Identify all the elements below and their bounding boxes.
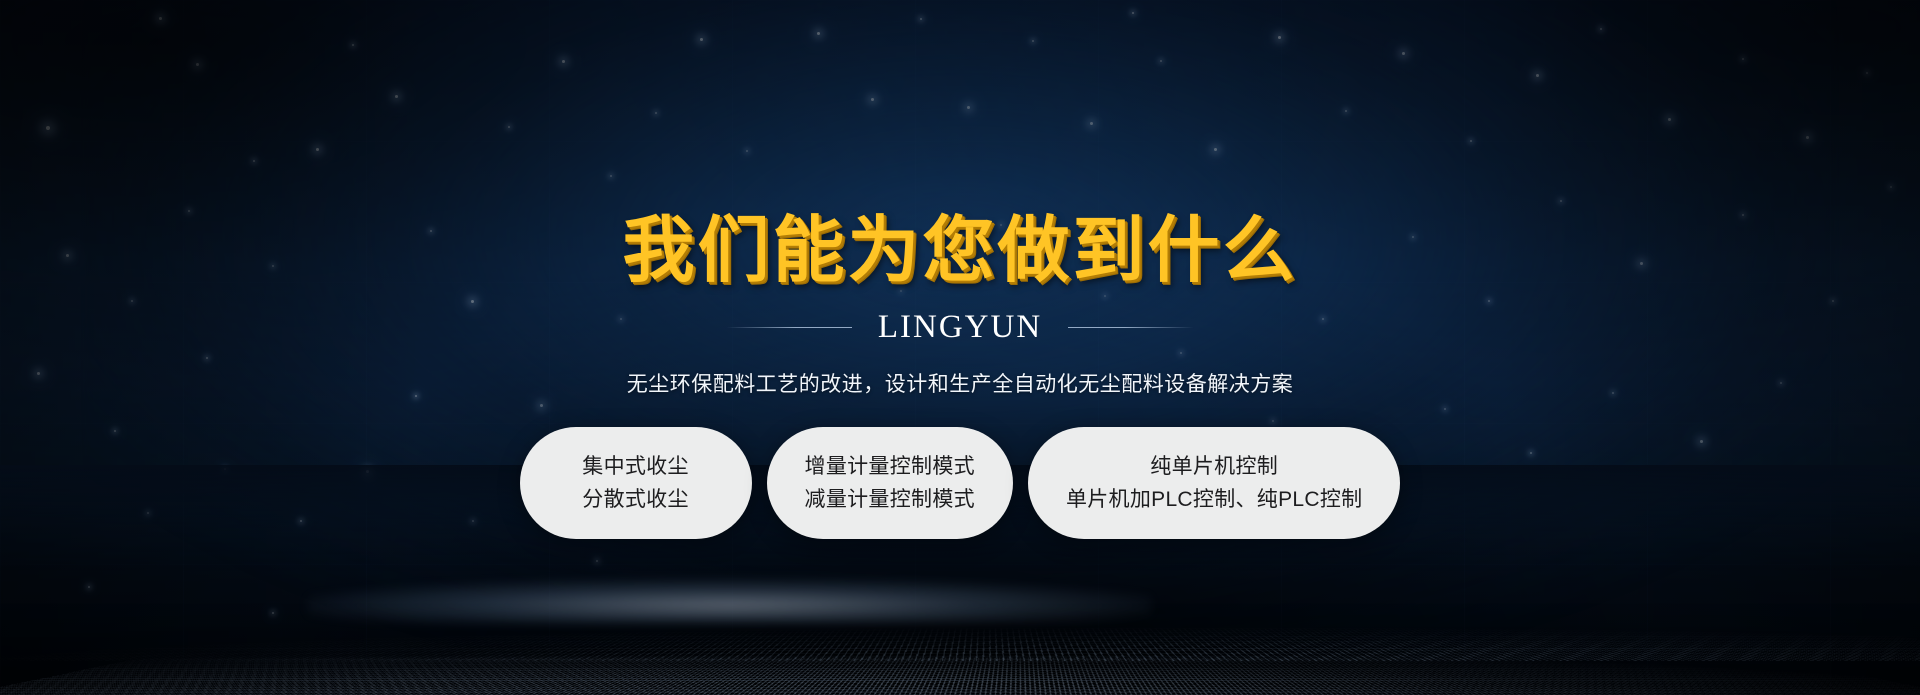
feature-card-line-2: 减量计量控制模式 (805, 488, 975, 511)
feature-card-metering-mode[interactable]: 增量计量控制模式 减量计量控制模式 (767, 427, 1013, 539)
feature-card-row: 集中式收尘 分散式收尘 增量计量控制模式 减量计量控制模式 纯单片机控制 单片机… (520, 427, 1401, 539)
feature-card-line-1: 增量计量控制模式 (805, 455, 975, 478)
rule-left-icon (726, 327, 852, 328)
feature-card-line-2: 分散式收尘 (582, 488, 689, 511)
tagline: 无尘环保配料工艺的改进，设计和生产全自动化无尘配料设备解决方案 (627, 368, 1294, 398)
feature-card-dust-collection[interactable]: 集中式收尘 分散式收尘 (520, 427, 752, 539)
brand-row: LINGYUN (726, 311, 1194, 344)
hero-banner: 我们能为您做到什么 LINGYUN 无尘环保配料工艺的改进，设计和生产全自动化无… (0, 0, 1920, 695)
feature-card-line-1: 纯单片机控制 (1150, 455, 1278, 478)
rule-right-icon (1068, 327, 1194, 328)
brand-name: LINGYUN (878, 311, 1042, 344)
feature-card-line-1: 集中式收尘 (582, 455, 689, 478)
feature-card-line-2: 单片机加PLC控制、纯PLC控制 (1066, 488, 1363, 511)
feature-card-control-system[interactable]: 纯单片机控制 单片机加PLC控制、纯PLC控制 (1028, 427, 1401, 539)
page-title: 我们能为您做到什么 (622, 214, 1297, 286)
banner-content: 我们能为您做到什么 LINGYUN 无尘环保配料工艺的改进，设计和生产全自动化无… (0, 0, 1920, 695)
